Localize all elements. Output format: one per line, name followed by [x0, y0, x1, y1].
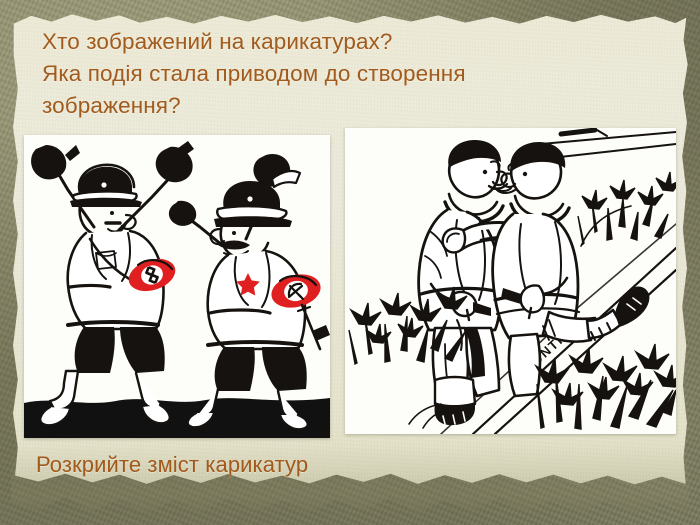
hitler-stalin-dancing-cartoon	[24, 135, 330, 438]
frontier-embrace-cartoon: FRONTIER	[345, 128, 676, 434]
footer-instruction: Розкрийте зміст карикатур	[36, 452, 308, 478]
title-line-3: зображення?	[42, 90, 642, 122]
title-line-2: Яка подія стала приводом до створення	[42, 58, 642, 90]
presentation-slide: Хто зображений на карикатурах? Яка подія…	[0, 0, 700, 525]
title-line-1: Хто зображений на карикатурах?	[42, 26, 642, 58]
page-title: Хто зображений на карикатурах? Яка подія…	[42, 26, 642, 122]
